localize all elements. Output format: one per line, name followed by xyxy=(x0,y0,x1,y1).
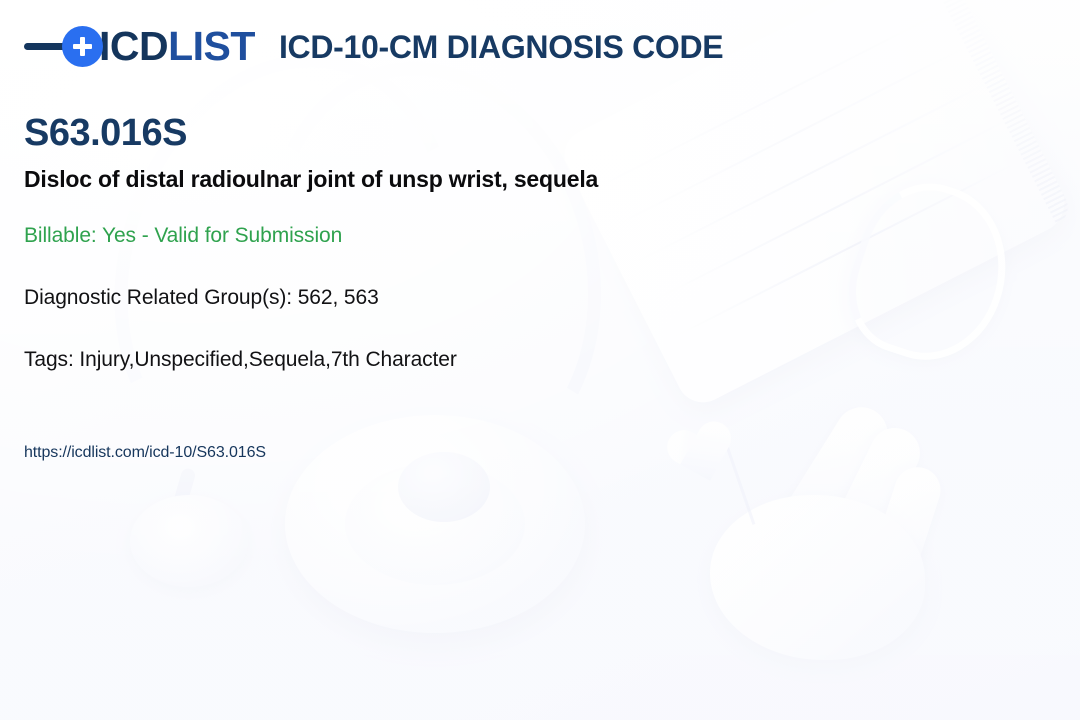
mask-pleat xyxy=(673,157,1026,338)
hand-finger xyxy=(775,397,898,550)
logo-word-list: LIST xyxy=(168,23,255,69)
paper-heart-icon xyxy=(662,399,830,567)
logo-word-icd: ICD xyxy=(99,23,168,69)
hand-holding-heart-graphic xyxy=(600,405,930,655)
diagnostic-related-groups: Diagnostic Related Group(s): 562, 563 xyxy=(24,286,379,310)
paper-heart-fold xyxy=(719,426,756,525)
plus-circle-icon xyxy=(62,26,103,67)
mask-pleat xyxy=(616,45,969,226)
diagnosis-code: S63.016S xyxy=(24,113,187,155)
icdlist-logo[interactable]: ICDLIST xyxy=(24,26,255,67)
hand-finger xyxy=(859,461,946,608)
stethoscope-chestpiece xyxy=(285,415,585,633)
mask-pleat xyxy=(654,120,1007,301)
plus-icon-horizontal-bar xyxy=(73,44,93,49)
mask-ear-loop-graphic xyxy=(832,166,1029,379)
mask-pleat xyxy=(635,82,988,263)
source-url[interactable]: https://icdlist.com/icd-10/S63.016S xyxy=(24,444,266,462)
stethoscope-stem xyxy=(169,467,196,519)
tags-list: Tags: Injury,Unspecified,Sequela,7th Cha… xyxy=(24,348,457,372)
stethoscope-tube-right xyxy=(222,26,644,513)
diagnosis-description: Disloc of distal radioulnar joint of uns… xyxy=(24,166,598,194)
billable-status: Billable: Yes - Valid for Submission xyxy=(24,224,342,248)
hand-finger xyxy=(818,420,929,577)
header-title: ICD-10-CM DIAGNOSIS CODE xyxy=(279,31,723,63)
mask-edge xyxy=(921,0,1075,225)
icd-code-card: ICDLIST ICD-10-CM DIAGNOSIS CODE S63.016… xyxy=(0,0,1080,720)
stethoscope-diaphragm xyxy=(398,452,490,522)
header: ICDLIST ICD-10-CM DIAGNOSIS CODE xyxy=(24,26,723,67)
hand-palm xyxy=(710,495,925,660)
stethoscope-eartip xyxy=(130,495,248,587)
logo-wordmark: ICDLIST xyxy=(99,26,255,67)
